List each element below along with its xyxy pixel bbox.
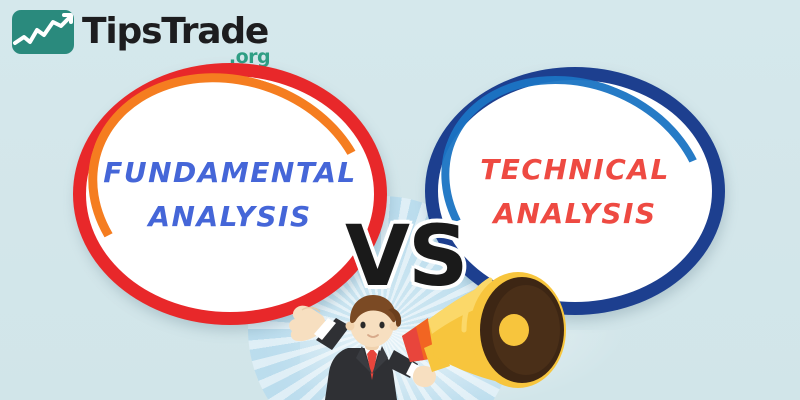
fundamental-analysis-bubble[interactable]: FUNDAMENTAL ANALYSIS [86,76,374,312]
technical-analysis-line-1: TECHNICAL [480,153,670,186]
technical-analysis-line-2: ANALYSIS [493,197,656,230]
brand-tld: .org [229,48,270,67]
line-chart-logo-mark [12,10,74,54]
versus-label: VS [345,214,467,298]
promo-banner: TipsTrade .org FUNDAMENTAL ANALYSIS TECH… [0,0,800,400]
brand-logo[interactable]: TipsTrade .org [12,10,268,54]
fundamental-analysis-line-1: FUNDAMENTAL [103,156,357,189]
brand-wordmark: TipsTrade .org [82,14,268,50]
fundamental-analysis-line-2: ANALYSIS [148,200,311,233]
